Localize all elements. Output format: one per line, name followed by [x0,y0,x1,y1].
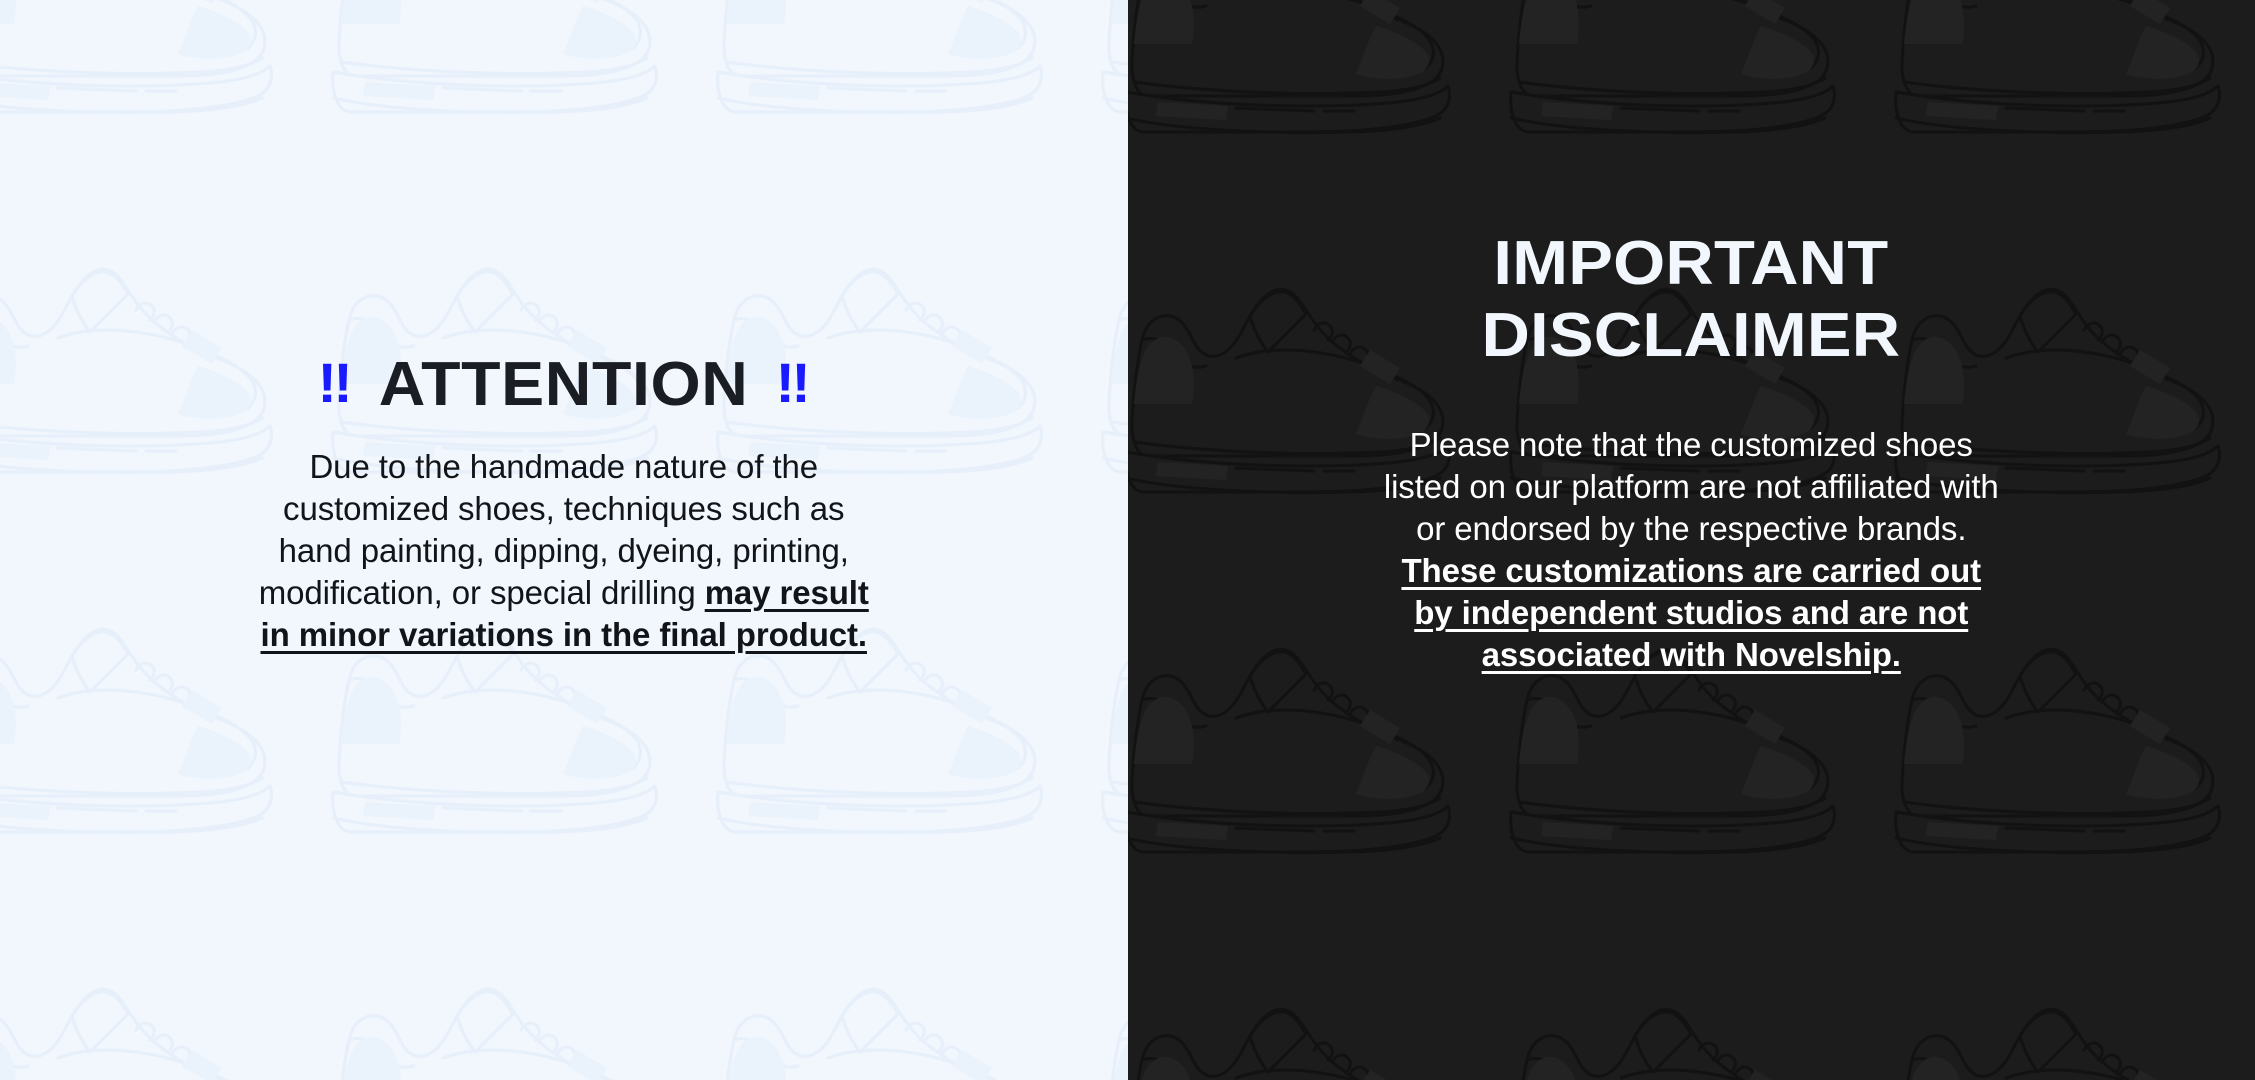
disclaimer-heading-line-1: IMPORTANT [1494,229,1889,298]
disclaimer-heading-line-2: DISCLAIMER [1482,301,1901,370]
attention-panel: ‼ ATTENTION ‼ Due to the handmade nature… [0,0,1128,1080]
attention-body: Due to the handmade nature of the custom… [250,446,878,656]
disclaimer-body-emphasis: These customizations are carried out by … [1401,552,1981,673]
double-exclamation-left-icon: ‼ [318,355,352,411]
split-banner: ‼ ATTENTION ‼ Due to the handmade nature… [0,0,2255,1080]
disclaimer-heading: IMPORTANT DISCLAIMER [1482,228,1901,372]
disclaimer-content: IMPORTANT DISCLAIMER Please note that th… [1128,0,2255,676]
double-exclamation-right-icon: ‼ [776,355,810,411]
attention-heading-text: ATTENTION [379,352,749,418]
disclaimer-panel: IMPORTANT DISCLAIMER Please note that th… [1128,0,2255,1080]
attention-content: ‼ ATTENTION ‼ Due to the handmade nature… [0,0,1128,656]
disclaimer-body: Please note that the customized shoes li… [1379,424,2003,676]
disclaimer-body-plain: Please note that the customized shoes li… [1384,426,1999,547]
attention-heading: ‼ ATTENTION ‼ [318,352,810,418]
